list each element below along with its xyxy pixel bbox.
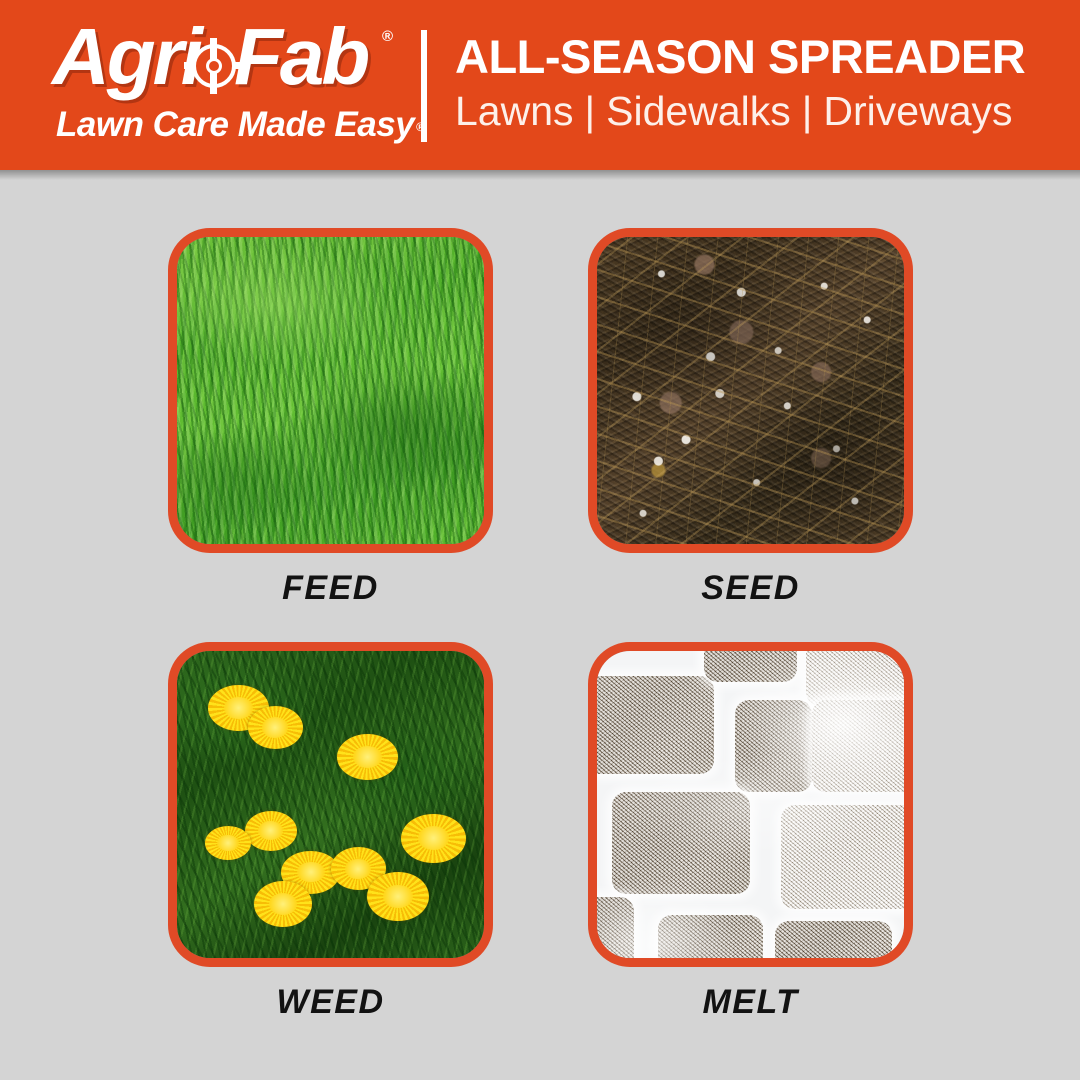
brand-name-part1: Agri [52,18,200,96]
wheel-target-icon [188,40,240,92]
subtitle-item-driveways: Driveways [823,86,1012,136]
dandelion-lawn-image [177,651,484,958]
header-divider [421,30,427,142]
tile-frame-melt[interactable] [588,642,913,967]
subtitle-item-lawns: Lawns [455,86,574,136]
feature-tile-melt[interactable]: MELT [588,642,928,1022]
paver-stone [597,676,714,774]
brand-registered-mark: ® [382,28,393,45]
paver-stone [775,921,892,958]
brand-wordmark: Agri Fab ® [52,22,400,100]
brand-logo[interactable]: Agri Fab ® Lawn Care Made Easy ® [52,22,400,144]
soil-image [597,237,904,544]
header-subtitle: Lawns | Sidewalks | Driveways [455,86,1055,136]
dandelion-flower [245,811,297,851]
feature-tile-weed[interactable]: WEED [168,642,508,1022]
header-band: Agri Fab ® Lawn Care Made Easy ® ALL-SEA… [0,0,1080,170]
dandelion-flower [337,734,398,780]
paver-stone [597,897,634,958]
dandelion-flower [401,814,465,863]
paver-stone [704,651,796,682]
paver-stone [781,805,904,909]
tile-caption-melt: MELT [588,983,913,1022]
tile-caption-feed: FEED [168,569,493,608]
dandelion-flower [367,872,428,921]
feature-tile-feed[interactable]: FEED [168,228,508,608]
brand-name-part2: Fab [234,18,367,96]
subtitle-separator-1: | [585,86,596,136]
paver-stone [612,792,750,893]
page-title: ALL-SEASON SPREADER [455,28,1055,86]
dandelion-flower [205,826,251,860]
paver-stone [658,915,762,958]
brand-tagline-row: Lawn Care Made Easy ® [56,106,425,144]
tile-frame-weed[interactable] [168,642,493,967]
header-title-group: ALL-SEASON SPREADER Lawns | Sidewalks | … [455,28,1055,136]
paver-stone [735,700,812,792]
emblem-hub [206,58,222,74]
tile-frame-feed[interactable] [168,228,493,553]
paver-stone [806,651,904,706]
subtitle-separator-2: | [802,86,813,136]
dandelion-flower [254,881,312,927]
grass-image [177,237,484,544]
brand-tagline: Lawn Care Made Easy [56,106,414,144]
tile-caption-weed: WEED [168,983,493,1022]
snowy-paver-image [597,651,904,958]
paver-stone [812,700,904,792]
feature-tile-seed[interactable]: SEED [588,228,928,608]
dandelion-flower [248,706,303,749]
feature-tile-grid: FEED SEED WEED [0,170,1080,1080]
subtitle-item-sidewalks: Sidewalks [606,86,791,136]
tile-caption-seed: SEED [588,569,913,608]
tile-frame-seed[interactable] [588,228,913,553]
header-drop-shadow [0,170,1080,180]
